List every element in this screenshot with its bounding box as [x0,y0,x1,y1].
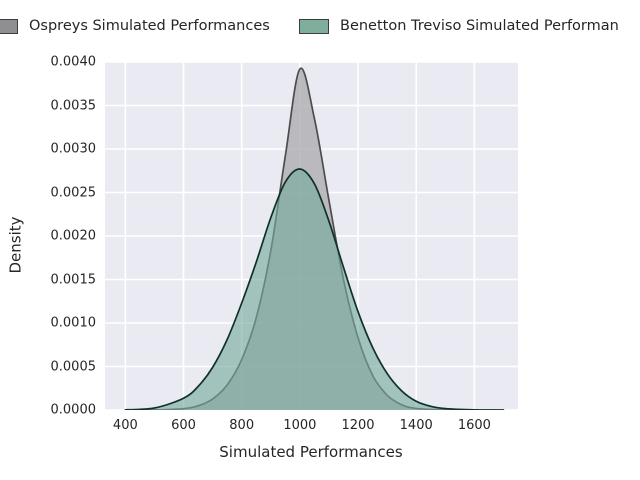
x-axis-label: Simulated Performances [0,443,640,461]
series-1 [125,169,503,410]
legend-swatch-ospreys [0,19,18,34]
x-tick-label: 1200 [341,418,374,433]
y-tick-label: 0.0035 [36,98,96,113]
legend-swatch-benetton-treviso [299,19,329,34]
chart-legend: Ospreys Simulated Performances Benetton … [0,13,640,39]
x-tick-label: 800 [229,418,254,433]
plot-area [105,62,518,410]
legend-item-ospreys[interactable]: Ospreys Simulated Performances [0,13,270,39]
legend-item-benetton-treviso[interactable]: Benetton Treviso Simulated Performan [299,13,619,39]
x-tick-label: 600 [171,418,196,433]
density-curves [105,62,518,410]
legend-label-ospreys: Ospreys Simulated Performances [29,18,270,34]
x-tick-label: 1400 [400,418,433,433]
y-tick-label: 0.0005 [36,359,96,374]
y-tick-label: 0.0040 [36,55,96,70]
y-tick-label: 0.0025 [36,185,96,200]
x-tick-label: 400 [113,418,138,433]
y-tick-label: 0.0015 [36,272,96,287]
legend-label-benetton-treviso: Benetton Treviso Simulated Performan [340,18,619,34]
y-tick-label: 0.0020 [36,229,96,244]
kde-density-chart: Ospreys Simulated Performances Benetton … [0,0,640,480]
y-axis-label: Density [7,216,25,273]
y-tick-label: 0.0030 [36,142,96,157]
x-tick-label: 1600 [458,418,491,433]
x-tick-label: 1000 [283,418,316,433]
y-tick-label: 0.0010 [36,316,96,331]
y-tick-label: 0.0000 [36,403,96,418]
